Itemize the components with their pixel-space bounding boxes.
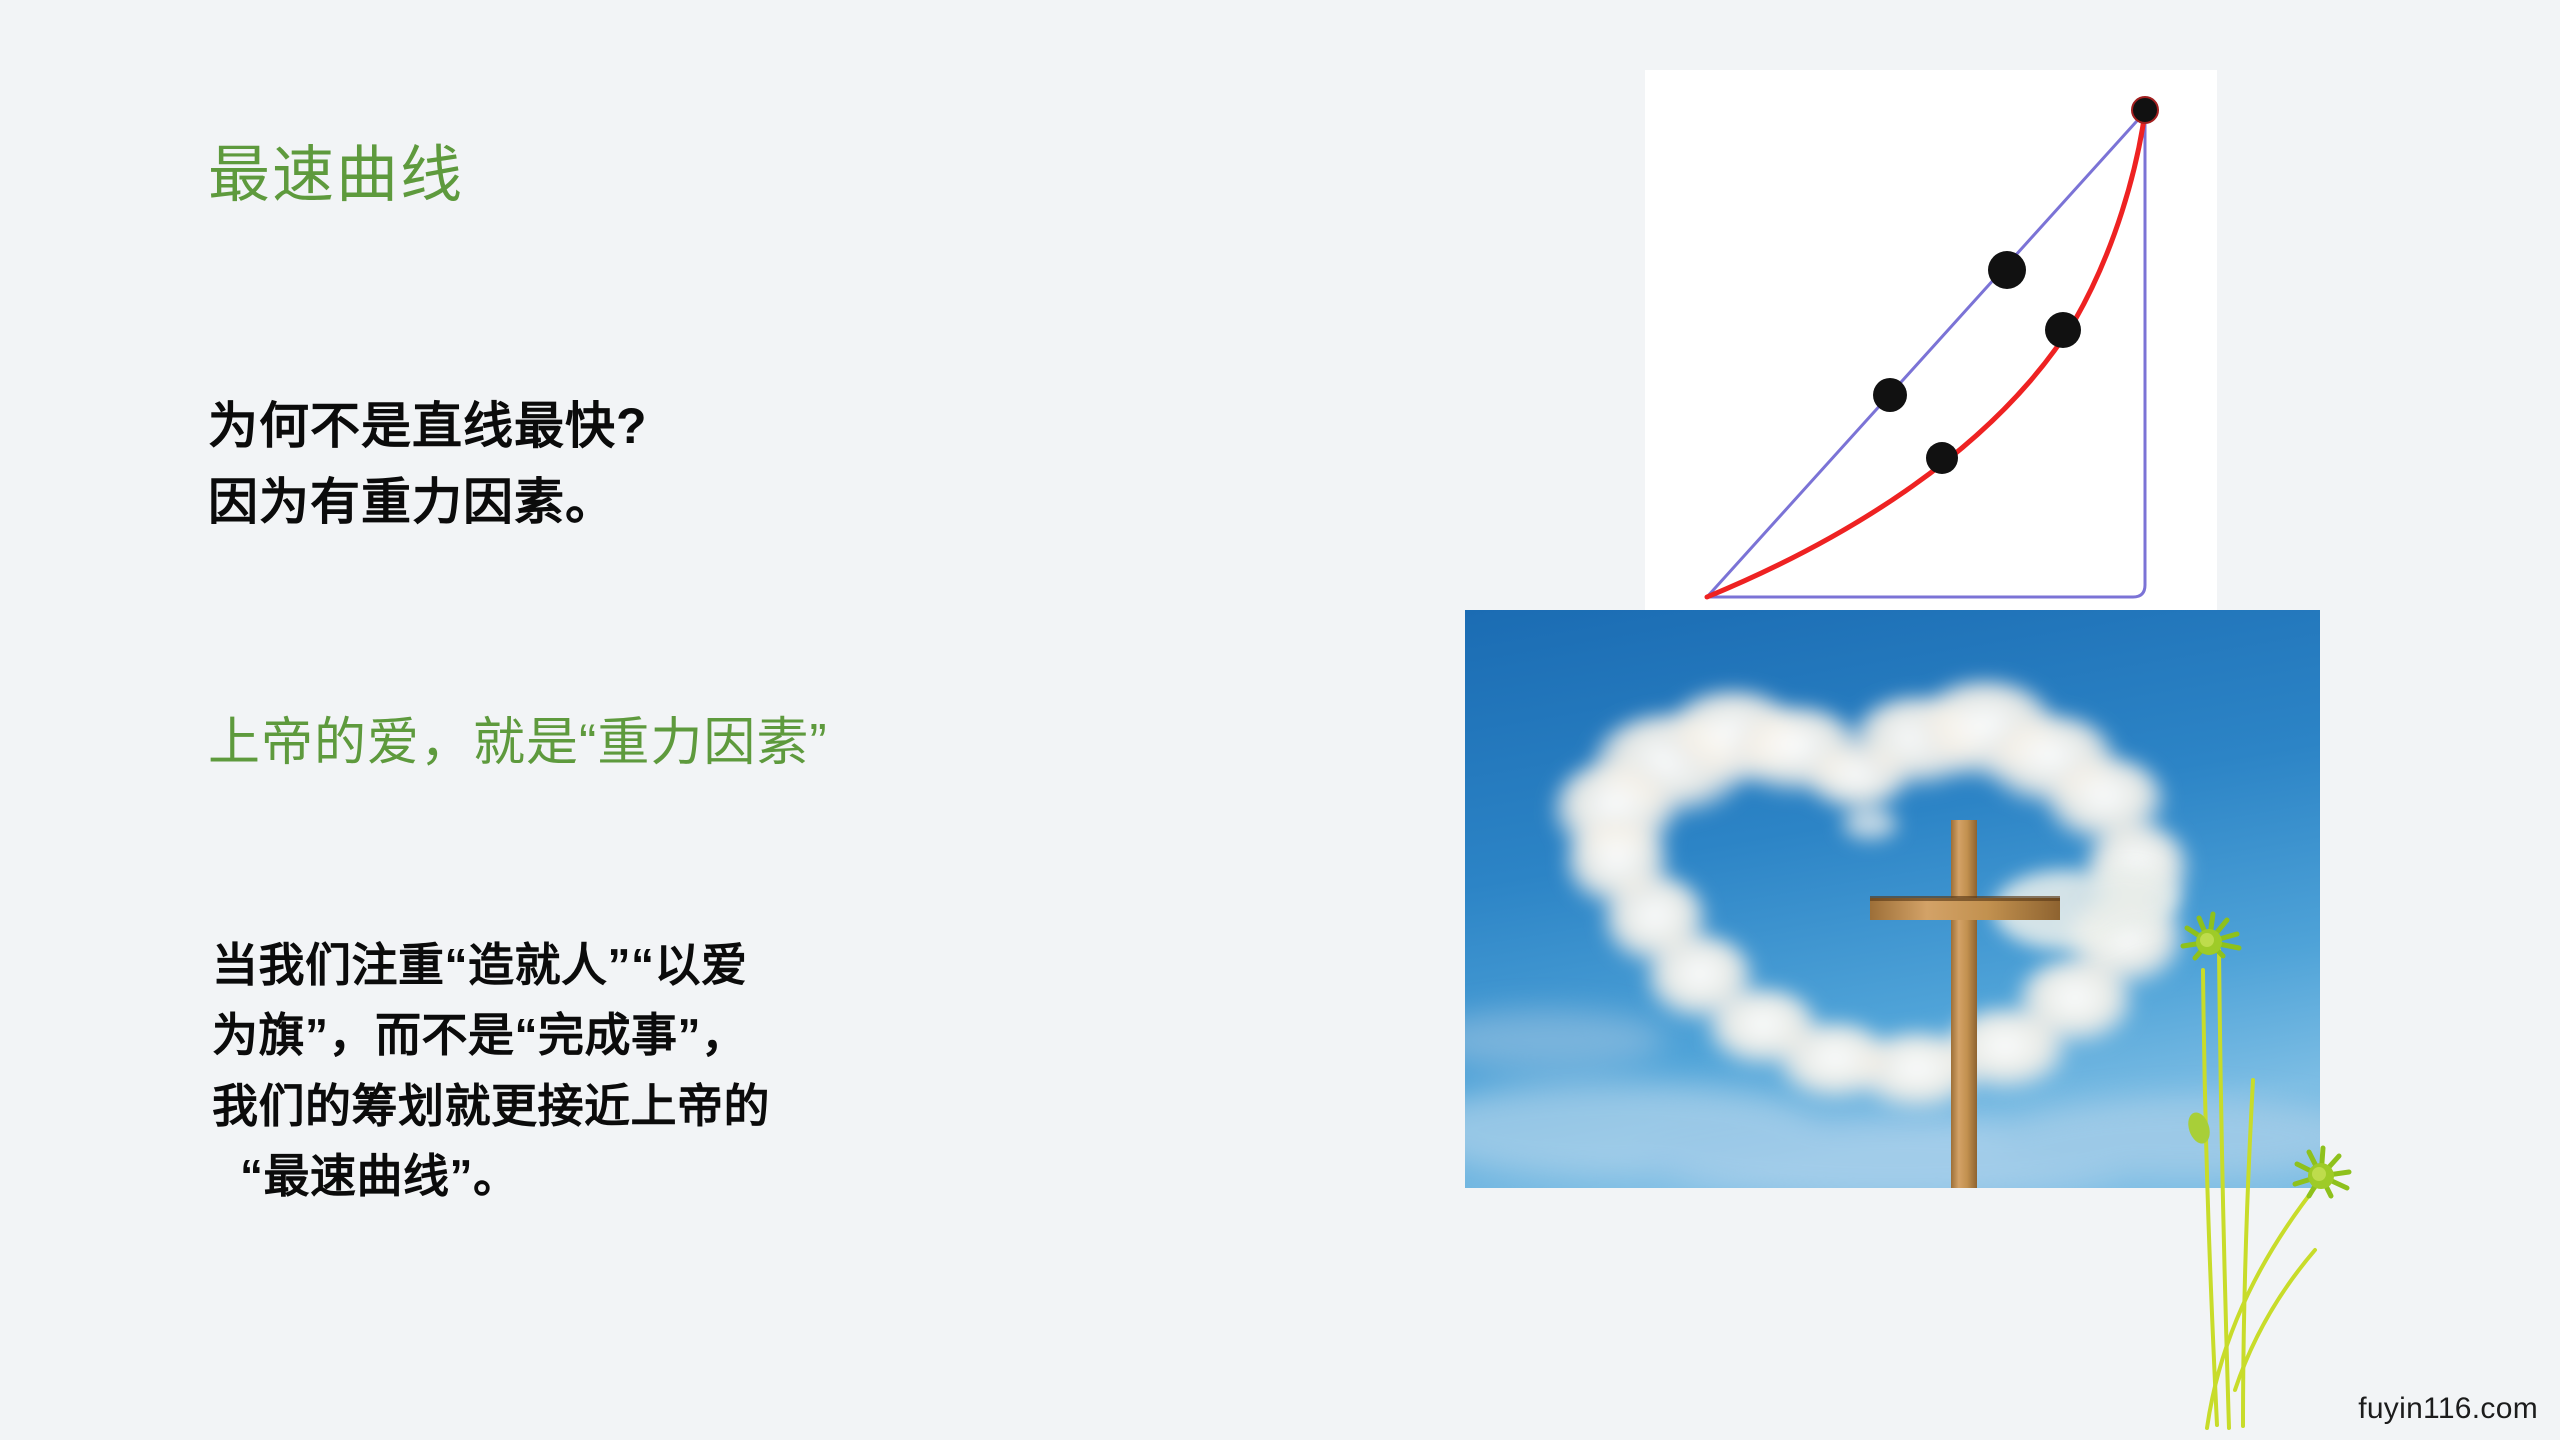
- question-line-2: 因为有重力因素。: [208, 464, 648, 540]
- site-watermark: fuyin116.com: [2358, 1392, 2538, 1426]
- body-paragraph: 当我们注重“造就人”“以爱 为旗”，而不是“完成事”， 我们的筹划就更接近上帝的…: [212, 930, 770, 1212]
- brachistochrone-diagram: [1645, 70, 2217, 658]
- photo-svg: [1465, 610, 2320, 1188]
- body-line-1: 当我们注重“造就人”“以爱: [212, 930, 770, 1000]
- ball-straight-1: [1988, 251, 2026, 289]
- ball-straight-2: [1873, 378, 1907, 412]
- ball-curve-2: [1926, 442, 1958, 474]
- left-text-column: 最速曲线 为何不是直线最快? 因为有重力因素。 上帝的爱，就是“重力因素” 当我…: [0, 0, 1400, 1440]
- section-subtitle: 上帝的爱，就是“重力因素”: [208, 712, 828, 774]
- body-line-2: 为旗”，而不是“完成事”，: [212, 1000, 770, 1070]
- page-title: 最速曲线: [208, 140, 464, 211]
- question-line-1: 为何不是直线最快?: [208, 388, 648, 464]
- body-line-4: “最速曲线”。: [212, 1141, 770, 1211]
- cross-vertical-beam: [1951, 820, 1977, 1188]
- ball-curve-1: [2045, 312, 2081, 348]
- brachistochrone-svg: [1645, 70, 2217, 658]
- cross-beam-shadow: [1870, 896, 2060, 901]
- question-block: 为何不是直线最快? 因为有重力因素。: [208, 388, 648, 540]
- heart-cloud-cross-photo: [1465, 610, 2320, 1188]
- slide-root: 最速曲线 为何不是直线最快? 因为有重力因素。 上帝的爱，就是“重力因素” 当我…: [0, 0, 2560, 1440]
- right-media-column: fuyin116.com: [1400, 0, 2560, 1440]
- body-line-3: 我们的筹划就更接近上帝的: [212, 1071, 770, 1141]
- cross-horizontal-beam: [1870, 898, 2060, 920]
